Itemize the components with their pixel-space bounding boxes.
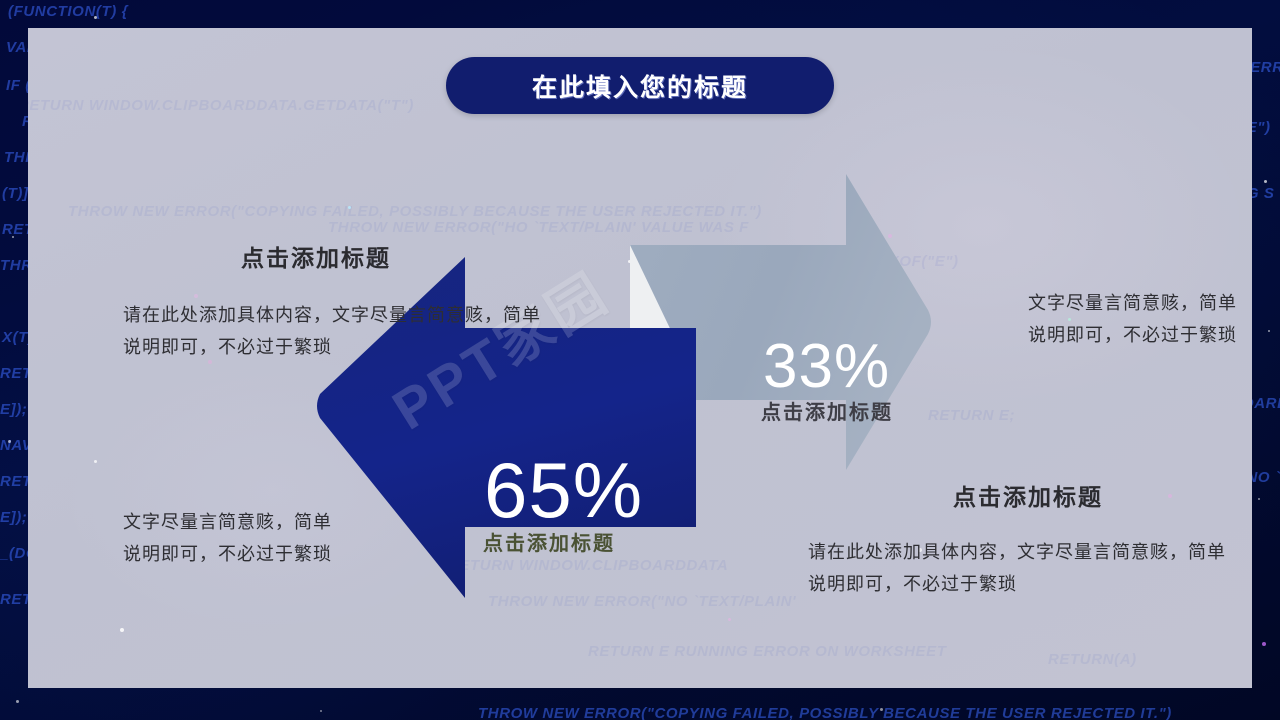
slide-title-pill[interactable]: 在此填入您的标题 — [446, 57, 834, 114]
section-body-bottom-left: 文字尽量言简意赅，简单说明即可，不必过于繁琐 — [123, 506, 343, 570]
section-heading-bottom-right: 点击添加标题 — [953, 478, 1103, 512]
percent-value-65: 65% — [484, 451, 643, 529]
section-body-top-left: 请在此处添加具体内容，文字尽量言简意赅，简单说明即可，不必过于繁琐 — [123, 299, 553, 363]
slide-canvas: (FUNCTION(T) { VAR E = T.GETDATA(S); IF … — [0, 0, 1280, 720]
section-body-bottom-right: 请在此处添加具体内容，文字尽量言简意赅，简单说明即可，不必过于繁琐 — [808, 536, 1228, 600]
arrow-label-33: 点击添加标题 — [761, 396, 893, 425]
arrow-label-65: 点击添加标题 — [483, 527, 615, 556]
section-body-top-right: 文字尽量言简意赅，简单说明即可，不必过于繁琐 — [1028, 287, 1238, 351]
slide-title-text: 在此填入您的标题 — [532, 68, 748, 104]
section-heading-top-left: 点击添加标题 — [241, 239, 391, 273]
percent-value-33: 33% — [763, 336, 890, 398]
content-panel: THROW NEW ERROR("COPYING FAILED, POSSIBL… — [28, 28, 1252, 688]
